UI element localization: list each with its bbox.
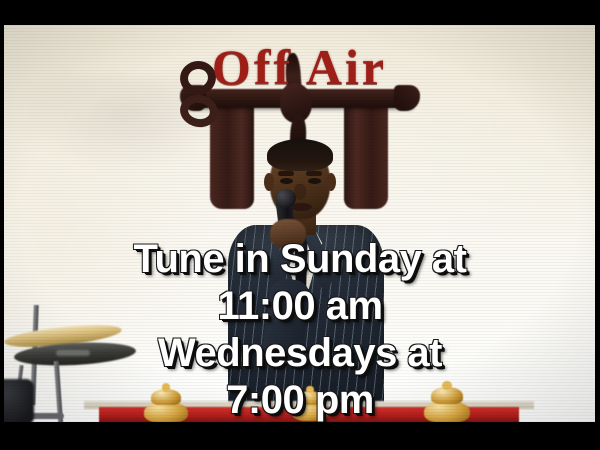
letterbox-bar-top (0, 0, 600, 25)
vessel-knob (162, 383, 171, 392)
off-air-banner: Off Air (4, 41, 595, 93)
vessel-knob (442, 381, 451, 390)
speaker-eyebrow-left (278, 171, 294, 176)
pillarbox-bar-right (595, 0, 600, 450)
gold-vessel-right (424, 387, 470, 422)
gold-vessel-center (292, 391, 328, 421)
speaker-ear-right (326, 173, 336, 191)
speaker-eye-left (280, 178, 293, 184)
altar-table (4, 393, 595, 422)
pillarbox-bar-left (0, 0, 4, 450)
speaker-hand (270, 219, 306, 249)
gold-vessel-left (144, 389, 188, 422)
vessel-lid (298, 391, 322, 405)
letterbox-bar-bottom (0, 422, 600, 450)
video-picture-area: Off Air (4, 25, 595, 422)
vessel-bowl (292, 402, 328, 421)
cymbal-logo-mark (56, 350, 90, 356)
video-player-frame: Off Air Tune in Sunday at 11:00 am Wedne… (0, 0, 600, 450)
speaker-ear-left (264, 173, 274, 191)
speaker-eye-right (308, 178, 321, 184)
speaker-eyebrow-right (306, 171, 322, 176)
vessel-knob (306, 386, 313, 394)
speaker-figure (222, 129, 390, 422)
speaker-hair (267, 139, 333, 171)
